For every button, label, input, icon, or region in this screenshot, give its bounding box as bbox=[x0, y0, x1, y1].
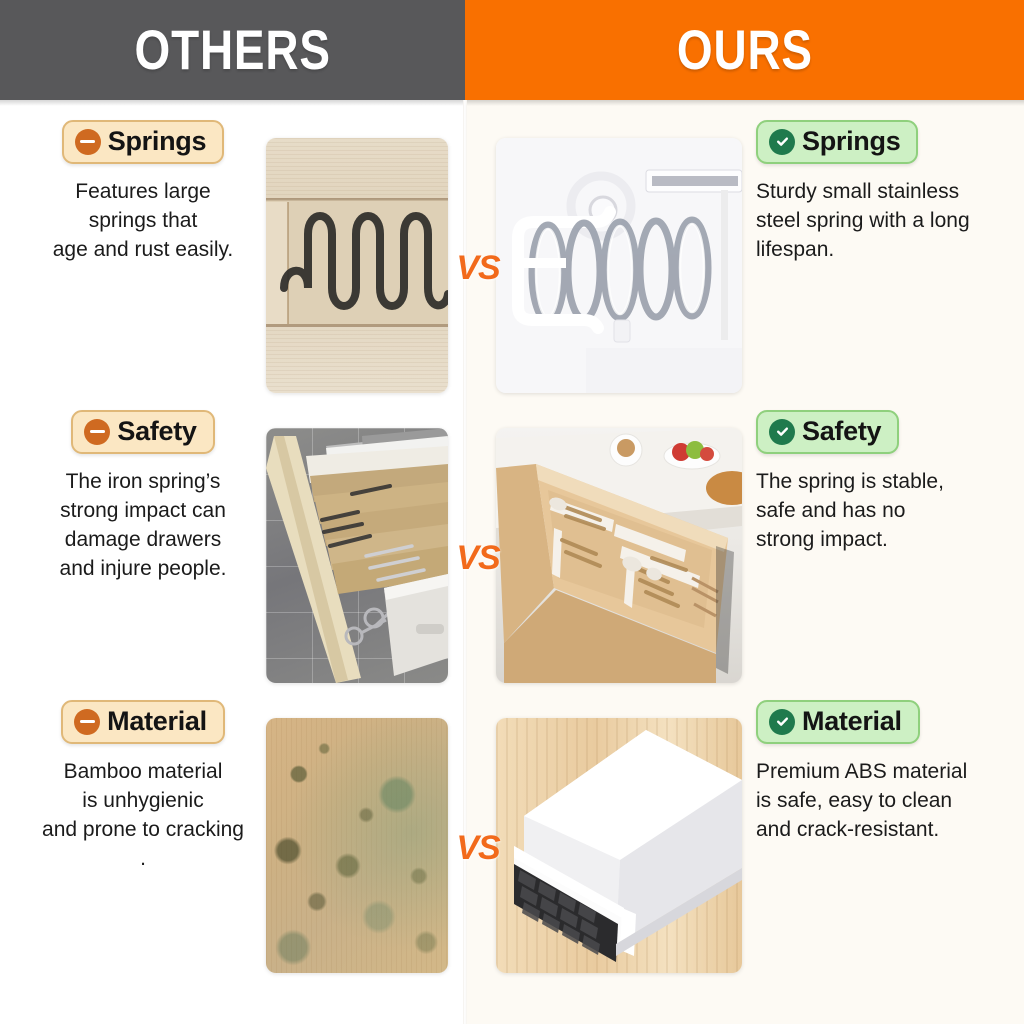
organized-wooden-drawer-graphic bbox=[496, 428, 742, 683]
comparison-infographic: OTHERS OURS Springs Features large sprin… bbox=[0, 0, 1024, 1024]
desc-line: is unhygienic bbox=[18, 787, 268, 816]
badge-springs-bad: Springs bbox=[62, 120, 224, 164]
desc-line: age and rust easily. bbox=[18, 236, 268, 265]
badge-safety-good-label: Safety bbox=[802, 418, 881, 445]
springs-left-text-block: Springs Features large springs that age … bbox=[18, 120, 268, 265]
desc-line-trailing-period: . bbox=[18, 845, 268, 874]
safety-left-description: The iron spring’s strong impact can dama… bbox=[18, 468, 268, 584]
desc-line: The iron spring’s bbox=[18, 468, 268, 497]
desc-line: strong impact. bbox=[756, 526, 1006, 555]
desc-line: Features large bbox=[18, 178, 268, 207]
vs-marker-springs: VS bbox=[455, 245, 501, 291]
desc-line: damage drawers bbox=[18, 526, 268, 555]
comparison-row-safety: Safety The iron spring’s strong impact c… bbox=[0, 410, 1024, 700]
comparison-row-springs: Springs Features large springs that age … bbox=[0, 120, 1024, 410]
badge-springs-good-label: Springs bbox=[802, 128, 900, 155]
vs-marker-safety: VS bbox=[455, 535, 501, 581]
black-zigzag-spring-graphic bbox=[266, 138, 448, 393]
badge-material-bad: Material bbox=[61, 700, 225, 744]
springs-right-image bbox=[496, 138, 742, 393]
material-right-image bbox=[496, 718, 742, 973]
badge-material-good: Material bbox=[756, 700, 920, 744]
badge-material-bad-label: Material bbox=[107, 708, 207, 735]
desc-line: Bamboo material bbox=[18, 758, 268, 787]
material-left-text-block: Material Bamboo material is unhygienic a… bbox=[18, 700, 268, 874]
header-ours-panel: OURS bbox=[465, 0, 1024, 100]
safety-right-description: The spring is stable, safe and has no st… bbox=[756, 468, 1006, 555]
check-circle-icon bbox=[769, 129, 795, 155]
header-bar: OTHERS OURS bbox=[0, 0, 1024, 100]
desc-line: The spring is stable, bbox=[756, 468, 1006, 497]
desc-line: springs that bbox=[18, 207, 268, 236]
badge-safety-good: Safety bbox=[756, 410, 899, 454]
white-abs-drawer-organizer-graphic bbox=[496, 718, 742, 973]
comparison-row-material: Material Bamboo material is unhygienic a… bbox=[0, 700, 1024, 990]
minus-circle-icon bbox=[84, 419, 110, 445]
desc-line: and injure people. bbox=[18, 555, 268, 584]
badge-springs-bad-label: Springs bbox=[108, 128, 206, 155]
desc-line: Premium ABS material bbox=[756, 758, 1006, 787]
desc-line: and prone to cracking bbox=[18, 816, 268, 845]
header-ours-title: OURS bbox=[677, 22, 813, 78]
safety-left-image bbox=[266, 428, 448, 683]
desc-line: steel spring with a long bbox=[756, 207, 1006, 236]
safety-left-text-block: Safety The iron spring’s strong impact c… bbox=[18, 410, 268, 584]
minus-circle-icon bbox=[74, 709, 100, 735]
springs-left-description: Features large springs that age and rust… bbox=[18, 178, 268, 265]
desc-line: lifespan. bbox=[756, 236, 1006, 265]
springs-right-description: Sturdy small stainless steel spring with… bbox=[756, 178, 1006, 265]
check-circle-icon bbox=[769, 709, 795, 735]
header-others-panel: OTHERS bbox=[0, 0, 465, 100]
badge-safety-bad-label: Safety bbox=[117, 418, 196, 445]
springs-left-image bbox=[266, 138, 448, 393]
desc-line: strong impact can bbox=[18, 497, 268, 526]
springs-right-text-block: Springs Sturdy small stainless steel spr… bbox=[756, 120, 1006, 265]
desc-line: safe and has no bbox=[756, 497, 1006, 526]
vs-marker-material: VS bbox=[455, 825, 501, 871]
minus-circle-icon bbox=[75, 129, 101, 155]
badge-springs-good: Springs bbox=[756, 120, 918, 164]
material-right-description: Premium ABS material is safe, easy to cl… bbox=[756, 758, 1006, 845]
broken-drawer-spilled-utensils-graphic bbox=[266, 428, 448, 683]
safety-right-text-block: Safety The spring is stable, safe and ha… bbox=[756, 410, 1006, 555]
safety-right-image bbox=[496, 428, 742, 683]
material-left-image bbox=[266, 718, 448, 973]
header-drop-shadow bbox=[0, 100, 1024, 106]
material-left-description: Bamboo material is unhygienic and prone … bbox=[18, 758, 268, 874]
header-others-title: OTHERS bbox=[134, 22, 330, 78]
check-circle-icon bbox=[769, 419, 795, 445]
badge-safety-bad: Safety bbox=[71, 410, 214, 454]
material-right-text-block: Material Premium ABS material is safe, e… bbox=[756, 700, 1006, 845]
desc-line: is safe, easy to clean bbox=[756, 787, 1006, 816]
white-mechanism-coil-spring-graphic bbox=[496, 138, 742, 393]
badge-material-good-label: Material bbox=[802, 708, 902, 735]
desc-line: Sturdy small stainless bbox=[756, 178, 1006, 207]
desc-line: and crack-resistant. bbox=[756, 816, 1006, 845]
